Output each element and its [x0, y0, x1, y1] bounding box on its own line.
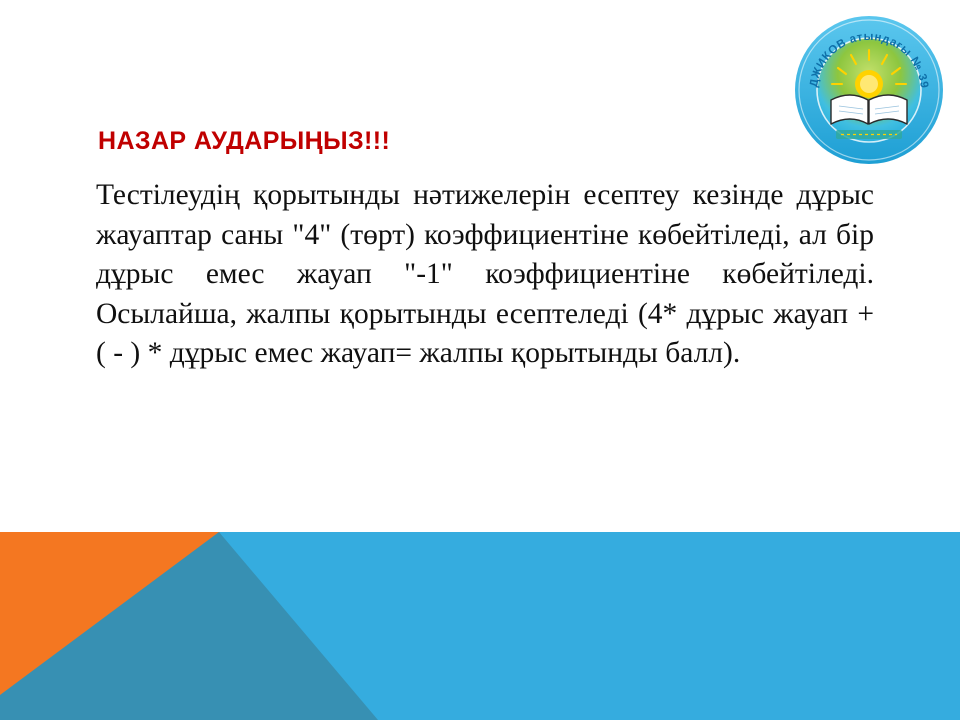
slide-canvas: С.А.ХОДЖИКОВ атындағы № 39 лицей [0, 0, 960, 720]
slide-body-text: Тестілеудің қорытынды нәтижелерін есепте… [96, 176, 874, 374]
body-paragraph: Тестілеудің қорытынды нәтижелерін есепте… [96, 176, 874, 374]
school-emblem-logo: С.А.ХОДЖИКОВ атындағы № 39 лицей [793, 14, 945, 166]
slide-title: НАЗАР АУДАРЫҢЫЗ!!! [98, 126, 798, 156]
school-emblem-icon: С.А.ХОДЖИКОВ атындағы № 39 лицей [793, 14, 945, 166]
footer-decorative-band [0, 532, 960, 720]
